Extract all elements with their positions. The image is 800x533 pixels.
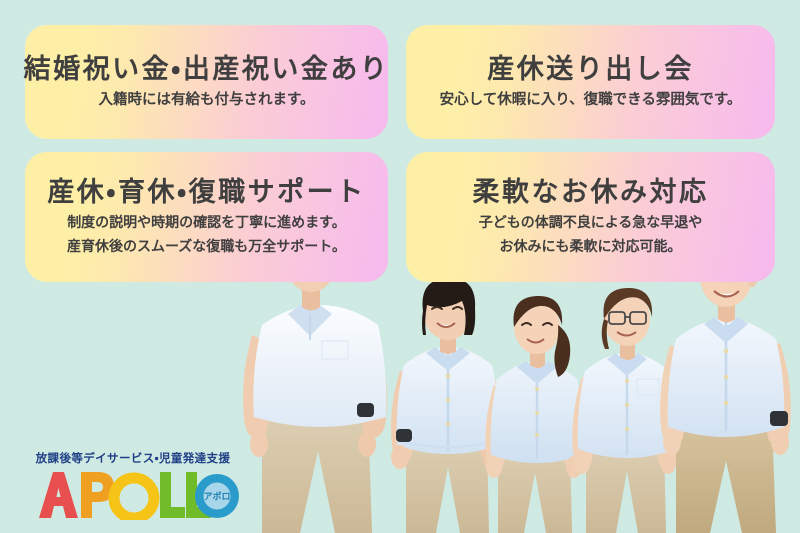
logo-letter-a [39, 472, 78, 518]
benefit-card-4-desc-line-2: お休みにも柔軟に対応可能。 [500, 237, 682, 257]
benefit-card-2-desc-line-1: 安心して休暇に入り、復職できる雰囲気です。 [440, 90, 742, 111]
apollo-logo-block[interactable]: 放課後等デイサービス・児童発達支援 [17, 450, 249, 520]
benefit-card-2: 産休送り出し会 安心して休暇に入り、復職できる雰囲気です。 [406, 25, 775, 139]
benefit-card-3-desc-line-2: 産育休後のスムーズな復職も万全サポート。 [67, 237, 346, 257]
logo-letter-o-yellow [114, 478, 154, 518]
benefit-card-3: 産休・育休・復職サポート 制度の説明や時期の確認を丁寧に進めます。 産育休後のス… [25, 152, 388, 282]
logo-tagline: 放課後等デイサービス・児童発達支援 [17, 450, 249, 466]
benefit-card-1: 結婚祝い金・出産祝い金あり 入籍時には有給も付与されます。 [25, 25, 388, 139]
benefit-card-1-title: 結婚祝い金・出産祝い金あり [24, 54, 390, 86]
apollo-wordmark: アポロ [17, 468, 249, 520]
benefit-card-2-title: 産休送り出し会 [487, 54, 694, 86]
benefit-card-3-title: 産休・育休・復職サポート [47, 177, 365, 209]
benefit-card-4-title: 柔軟なお休み対応 [473, 177, 709, 209]
benefit-card-3-desc-line-1: 制度の説明や時期の確認を丁寧に進めます。 [67, 213, 346, 233]
benefit-card-4: 柔軟なお休み対応 子どもの体調不良による急な早退や お休みにも柔軟に対応可能。 [406, 152, 775, 282]
logo-inner-kana: アポロ [203, 491, 230, 502]
logo-letter-l-1 [160, 472, 185, 518]
benefit-card-4-desc-line-1: 子どもの体調不良による急な早退や [479, 213, 703, 233]
logo-letter-o-blue: アポロ [195, 474, 239, 518]
benefit-card-1-desc-line-1: 入籍時には有給も付与されます。 [98, 90, 314, 111]
poster-root: 結婚祝い金・出産祝い金あり 入籍時には有給も付与されます。 産休送り出し会 安心… [0, 0, 800, 533]
